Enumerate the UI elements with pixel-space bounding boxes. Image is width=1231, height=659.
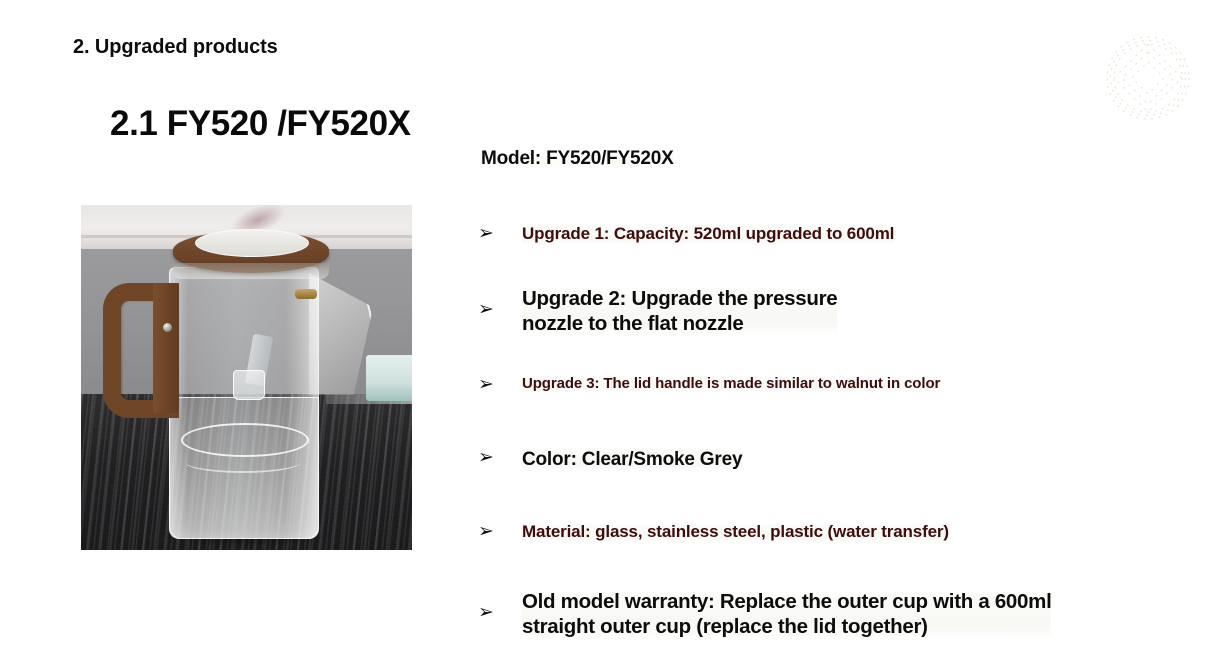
arrowhead-bullet-icon: ➢ [478, 448, 522, 467]
bullet-item-material: ➢ Material: glass, stainless steel, plas… [478, 522, 949, 543]
bullet-text-upgrade-3: Upgrade 3: The lid handle is made simila… [522, 375, 940, 393]
bullet-item-upgrade-3: ➢ Upgrade 3: The lid handle is made simi… [478, 375, 940, 394]
bullet-item-upgrade-2: ➢ Upgrade 2: Upgrade the pressure nozzle… [478, 286, 837, 336]
bullet-text-material: Material: glass, stainless steel, plasti… [522, 522, 949, 543]
bullet-item-upgrade-1: ➢ Upgrade 1: Capacity: 520ml upgraded to… [478, 224, 894, 245]
section-heading: 2. Upgraded products [73, 36, 278, 59]
page-title: 2.1 FY520 /FY520X [110, 104, 411, 144]
slide-canvas: 2. Upgraded products 2.1 FY520 /FY520X M… [0, 0, 1231, 659]
arrowhead-bullet-icon: ➢ [478, 603, 522, 622]
photo-handle-screw [163, 323, 172, 332]
arrowhead-bullet-icon: ➢ [478, 522, 522, 541]
bullet-item-warranty: ➢ Old model warranty: Replace the outer … [478, 589, 1051, 639]
bullet-item-color: ➢ Color: Clear/Smoke Grey [478, 448, 742, 471]
photo-handle-post [153, 283, 179, 413]
bullet-text-upgrade-1: Upgrade 1: Capacity: 520ml upgraded to 6… [522, 224, 894, 245]
product-photo [81, 205, 412, 550]
bullet-text-upgrade-2: Upgrade 2: Upgrade the pressure nozzle t… [522, 286, 837, 336]
bullet-text-color: Color: Clear/Smoke Grey [522, 448, 742, 471]
arrowhead-bullet-icon: ➢ [478, 224, 522, 243]
photo-lid-clip [295, 289, 317, 299]
photo-lid-rim [173, 263, 329, 279]
model-label: Model: FY520/FY520X [481, 148, 674, 170]
photo-inner-cup-ring-2 [185, 451, 301, 473]
photo-lid-top-disc [195, 229, 309, 257]
photo-flat-nozzle [233, 370, 265, 400]
company-logo-watermark [1090, 28, 1206, 128]
arrowhead-bullet-icon: ➢ [478, 300, 522, 319]
arrowhead-bullet-icon: ➢ [478, 375, 522, 394]
bullet-text-warranty: Old model warranty: Replace the outer cu… [522, 589, 1051, 639]
photo-background-object [366, 355, 412, 401]
